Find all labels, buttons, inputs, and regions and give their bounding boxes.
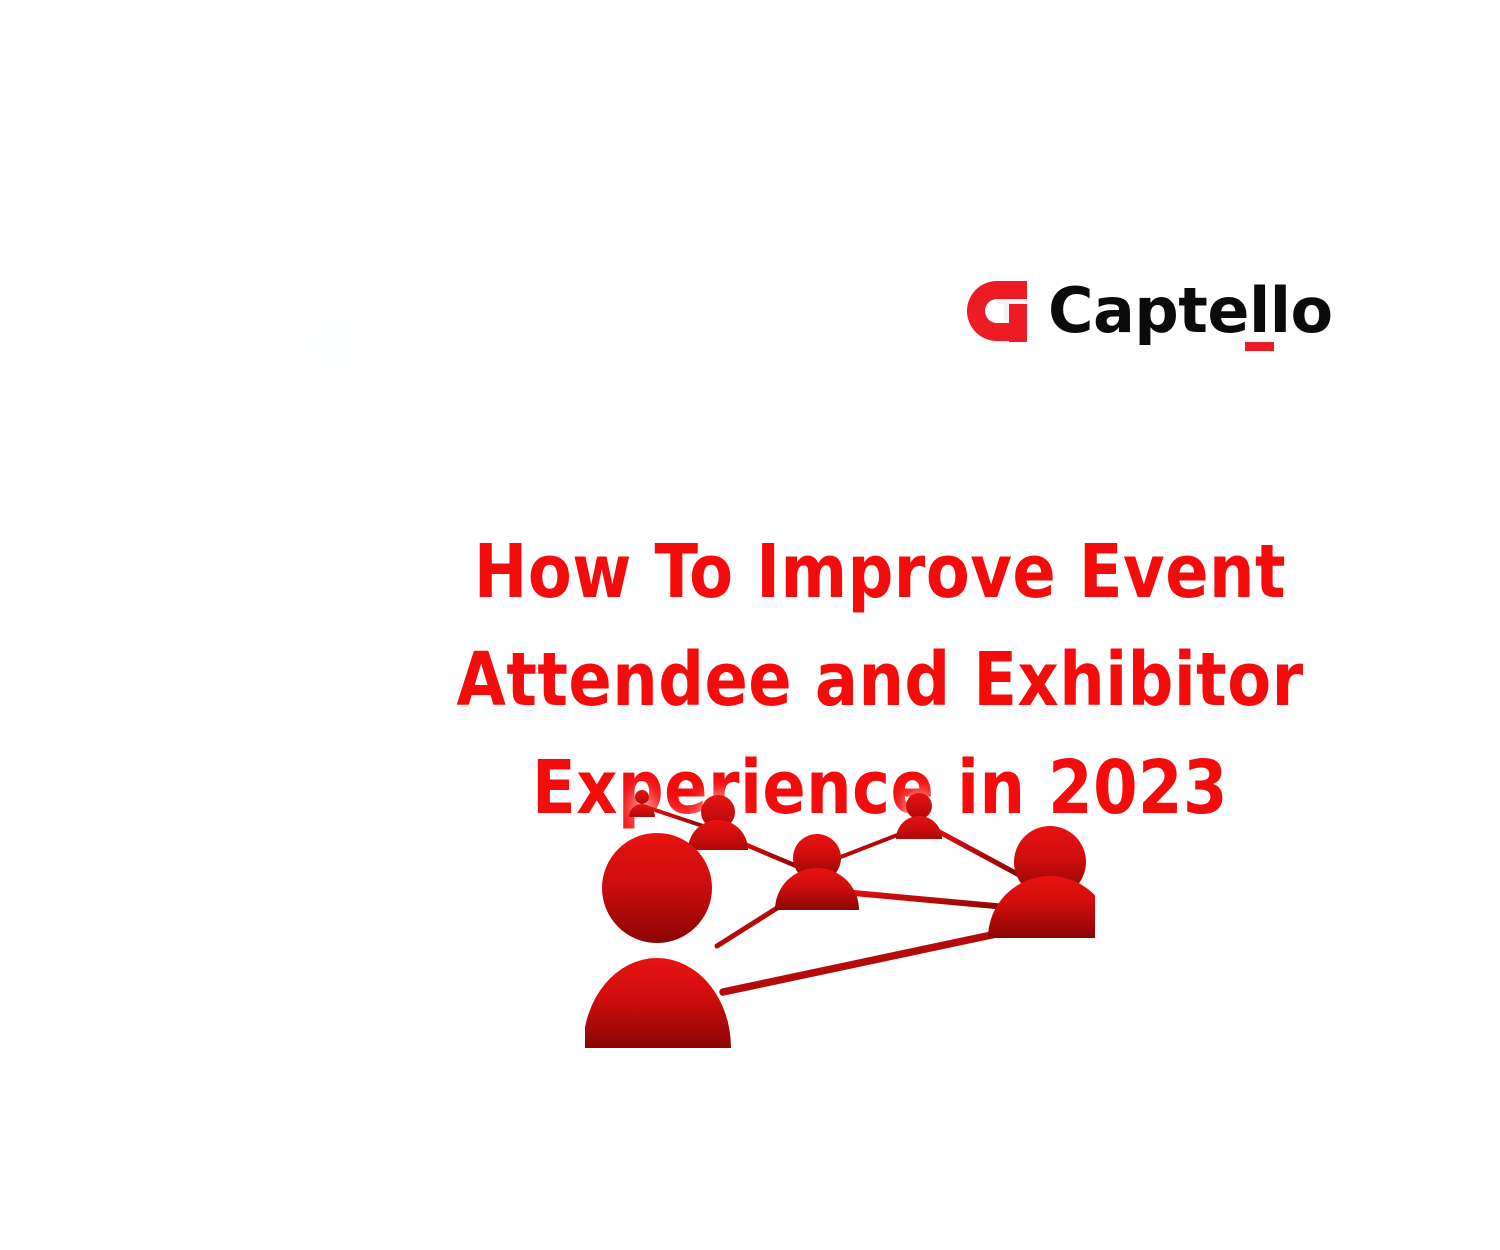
- network-node-person: [896, 793, 942, 839]
- bokeh-light: [493, 38, 529, 70]
- network-link: [843, 892, 1017, 908]
- booth-tint-blue: [460, 340, 720, 430]
- network-link: [723, 930, 1015, 992]
- bokeh-light: [170, 425, 224, 475]
- title-card: Captello How To Improve Event Attendee a…: [0, 0, 1500, 1250]
- bokeh-light: [250, 388, 314, 444]
- crowd-silhouette: [300, 720, 380, 970]
- bokeh-light: [108, 492, 174, 550]
- bokeh-light: [1310, 360, 1368, 412]
- bokeh-light: [140, 355, 200, 409]
- people-network-graphic: [585, 780, 1095, 1055]
- bokeh-light: [1110, 375, 1164, 423]
- bokeh-light: [1350, 420, 1410, 474]
- bokeh-light: [80, 440, 138, 492]
- bokeh-light: [1040, 340, 1100, 394]
- bokeh-light: [1170, 450, 1232, 504]
- bokeh-light: [1340, 560, 1398, 610]
- bokeh-light: [272, 480, 328, 530]
- bokeh-light: [344, 465, 394, 511]
- bokeh-light: [840, 190, 880, 226]
- booth-tint-yellow: [40, 620, 220, 740]
- network-node-person: [988, 826, 1095, 938]
- bokeh-light: [198, 508, 258, 562]
- wordmark-underline: [1245, 342, 1274, 351]
- bokeh-light: [70, 568, 132, 622]
- bokeh-light: [50, 380, 102, 428]
- hall-banner: [420, 175, 690, 221]
- wordmark-underlined-letter: l: [1249, 280, 1270, 342]
- bokeh-light: [220, 330, 276, 380]
- network-link: [833, 832, 905, 860]
- bokeh-light: [16, 510, 74, 562]
- network-node-person: [629, 790, 655, 817]
- crowd-silhouette: [170, 740, 260, 970]
- title-line-2: Attendee and Exhibitor: [438, 626, 1321, 734]
- bokeh-light: [620, 28, 676, 78]
- bokeh-light: [318, 410, 368, 456]
- bokeh-light: [170, 580, 224, 630]
- bokeh-light: [775, 165, 819, 205]
- network-link: [649, 808, 709, 828]
- captello-wordmark: Captello: [1048, 280, 1333, 342]
- bokeh-light: [980, 160, 1014, 190]
- network-link: [932, 828, 1021, 876]
- captello-c-mark-icon: [966, 280, 1028, 342]
- network-node-person: [775, 834, 859, 910]
- title-line-1: How To Improve Event: [438, 518, 1321, 626]
- network-node-person: [585, 833, 731, 1048]
- bokeh-light: [220, 620, 278, 672]
- captello-logo[interactable]: Captello: [966, 280, 1333, 342]
